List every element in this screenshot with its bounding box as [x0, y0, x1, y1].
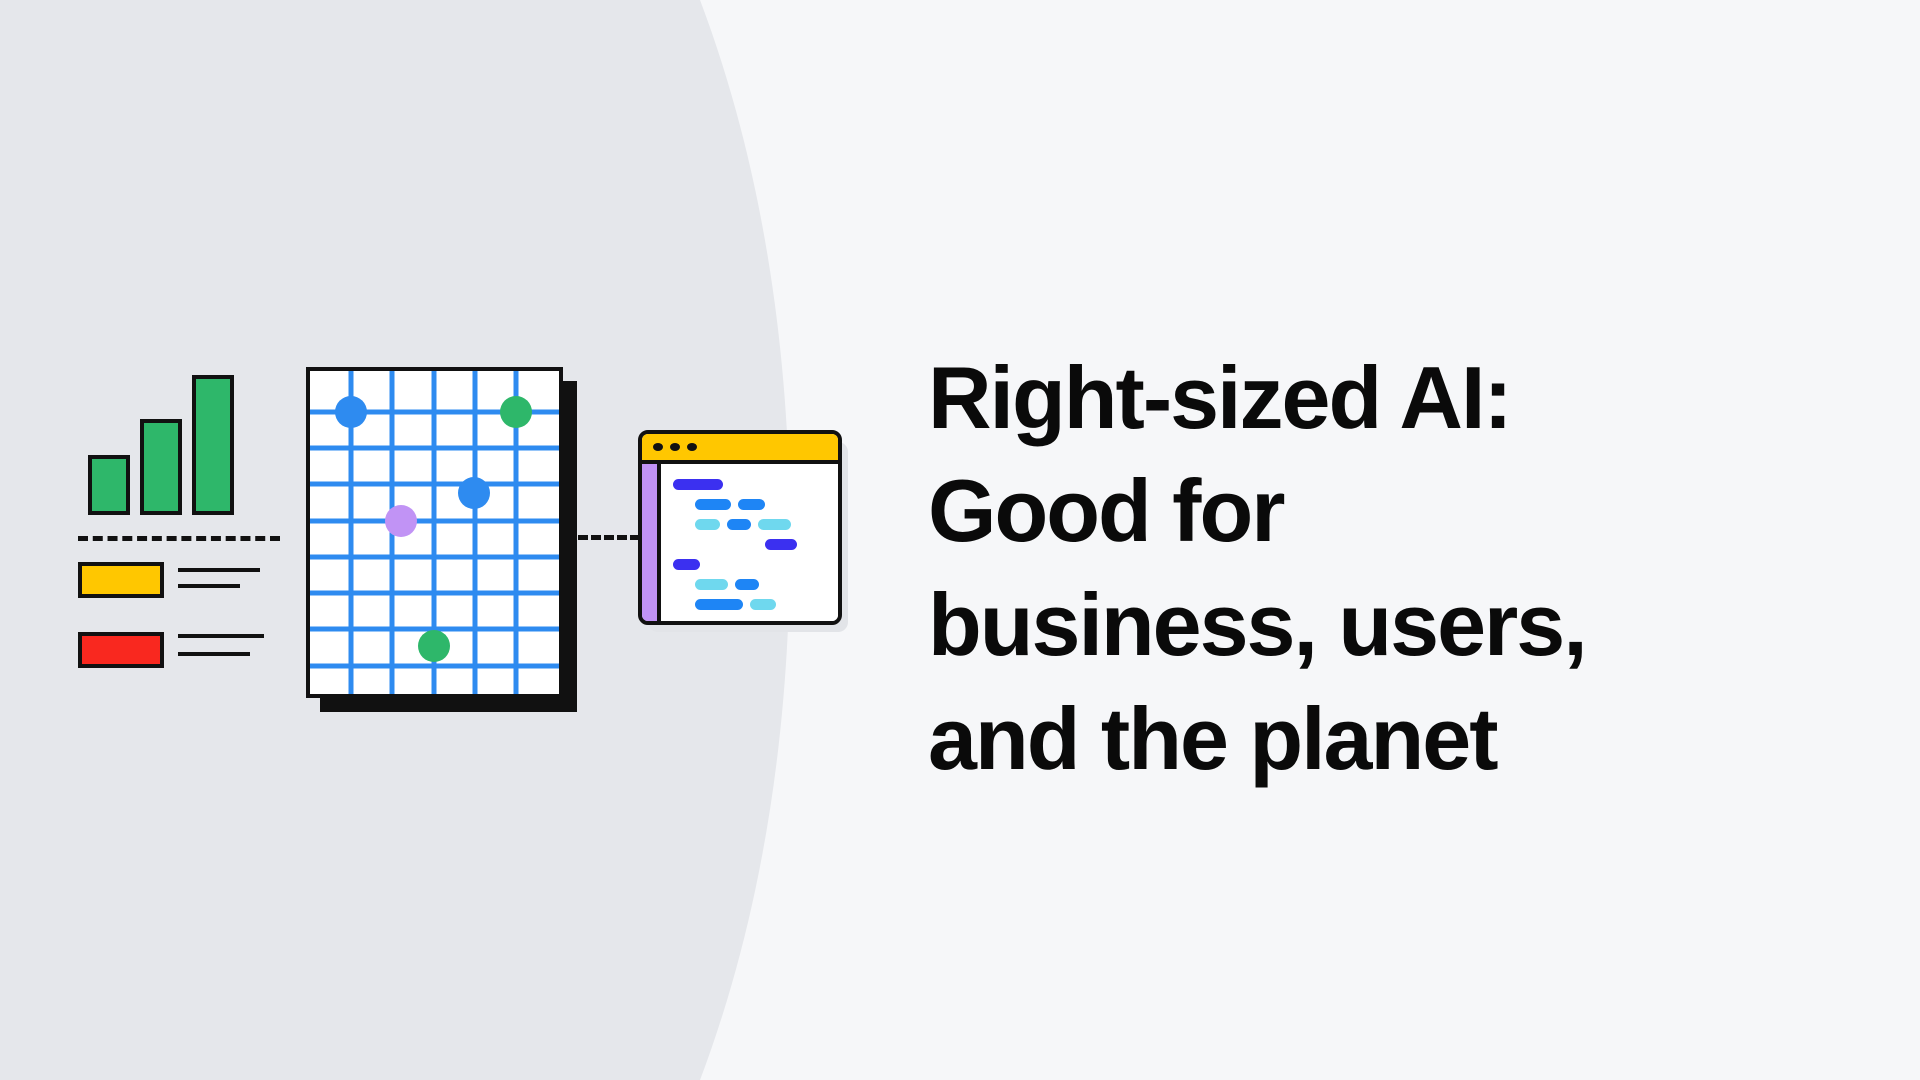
bar-chart-bar-3: [192, 375, 234, 515]
code-line-6: [661, 576, 838, 592]
point-blue-top-left: [335, 396, 367, 428]
code-token-3-2: [727, 519, 751, 530]
code-token-2-1: [695, 499, 731, 510]
code-window-body: [642, 464, 838, 621]
code-line-4: [661, 536, 838, 552]
scatter-grid-panel: [306, 367, 563, 698]
code-line-3: [661, 516, 838, 532]
code-token-3-1: [695, 519, 720, 530]
headline-line-2: Good for: [928, 454, 1808, 568]
code-window-sidebar: [642, 464, 661, 621]
code-editor-window: [638, 430, 842, 625]
background-curve-panel: [0, 0, 900, 1080]
ai-model-rightsizing-illustration: [0, 0, 900, 1080]
code-token-4-1: [765, 539, 797, 550]
point-blue-middle: [458, 477, 490, 509]
legend-rule-red-1: [178, 634, 264, 638]
code-line-7: [661, 596, 838, 612]
code-token-7-1: [695, 599, 743, 610]
code-token-6-2: [735, 579, 759, 590]
bar-chart-bar-1: [88, 455, 130, 515]
connector-grid-to-code: [578, 535, 640, 540]
code-window-titlebar: [642, 434, 838, 464]
point-green-top-right: [500, 396, 532, 428]
bar-chart-bar-2: [140, 419, 182, 515]
code-token-2-2: [738, 499, 765, 510]
legend-swatch-red: [78, 632, 164, 668]
headline-line-1: Right-sized AI:: [928, 341, 1808, 455]
code-token-1-1: [673, 479, 723, 490]
legend-rule-yellow-2: [178, 584, 240, 588]
code-token-5-1: [673, 559, 700, 570]
code-line-2: [661, 496, 838, 512]
legend-rule-yellow-1: [178, 568, 260, 572]
traffic-light-minimize-icon: [670, 443, 680, 451]
traffic-light-close-icon: [653, 443, 663, 451]
code-line-1: [661, 476, 838, 492]
grid-panel-shadow: [320, 381, 577, 712]
point-purple-middle: [385, 505, 417, 537]
code-window-shadow: [648, 442, 848, 632]
headline-line-3: business, users,: [928, 568, 1808, 682]
legend-swatch-yellow: [78, 562, 164, 598]
headline-line-4: and the planet: [928, 682, 1808, 796]
point-green-bottom: [418, 630, 450, 662]
bar-chart-baseline: [78, 536, 280, 541]
hero-banner: Right-sized AI: Good for business, users…: [0, 0, 1920, 1080]
code-line-5: [661, 556, 838, 572]
legend-rule-red-2: [178, 652, 250, 656]
code-line-list: [661, 464, 838, 621]
code-token-6-1: [695, 579, 728, 590]
page-title: Right-sized AI: Good for business, users…: [928, 341, 1808, 795]
traffic-light-maximize-icon: [687, 443, 697, 451]
code-token-7-2: [750, 599, 776, 610]
code-token-3-3: [758, 519, 791, 530]
